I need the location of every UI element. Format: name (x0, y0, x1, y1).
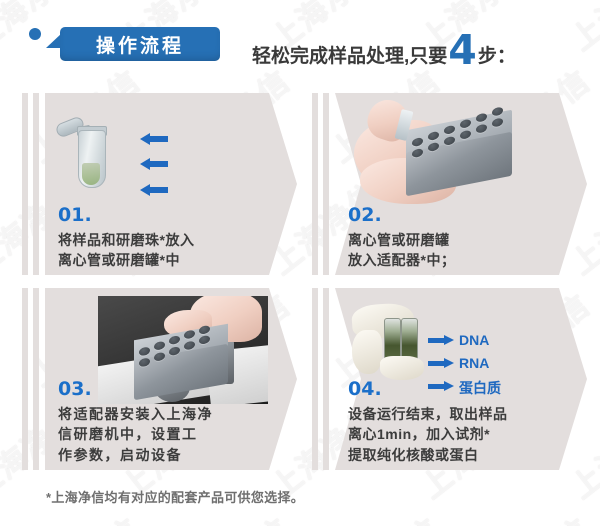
tube-liquid-icon (82, 163, 100, 185)
card-accent-bar (22, 288, 28, 470)
card-accent-bar (312, 93, 318, 275)
sample-arrow-icon (140, 158, 170, 170)
output-arrow-icon (428, 358, 454, 368)
infographic-page: 操作流程 轻松完成样品处理,只要 4 步： (0, 0, 600, 526)
card-accent-bar (33, 288, 39, 470)
step-2-number: 02. (348, 206, 548, 225)
watermark-text: 上海净信 (470, 505, 598, 526)
step-1-body: 01. 将样品和研磨珠*放入 离心管或研磨罐*中 (58, 206, 258, 271)
output-label-dna: DNA (459, 332, 489, 348)
sample-arrow-icon (140, 184, 170, 196)
headline-prefix: 轻松完成样品处理,只要 (252, 41, 447, 68)
step-3-number: 03. (58, 380, 268, 399)
sample-arrow-icon (140, 133, 170, 145)
watermark-text: 上海净信 (170, 505, 298, 526)
headline-step-count: 4 (448, 30, 477, 71)
step-4-number: 04. (348, 380, 558, 399)
watermark-text: 上海净信 (320, 505, 448, 526)
output-label-rna: RNA (459, 355, 489, 371)
card-accent-bar (323, 93, 329, 275)
headline-suffix: 步： (478, 41, 516, 68)
card-accent-bar (33, 93, 39, 275)
step-3-text: 将适配器安装入上海净 信研磨机中，设置工 作参数，启动设备 (58, 404, 268, 465)
page-header: 操作流程 轻松完成样品处理,只要 4 步： (0, 0, 600, 86)
footer-note: *上海净信均有对应的配套产品可供您选择。 (46, 487, 304, 506)
tube-body-icon (78, 130, 106, 188)
step-1-number: 01. (58, 206, 258, 225)
watermark-text: 上海净信 (20, 505, 148, 526)
step-2-text: 离心管或研磨罐 放入适配器*中； (348, 230, 548, 271)
banner-label: 操作流程 (60, 27, 220, 61)
card-accent-bar (22, 93, 28, 275)
hand-loading-adapter-photo (350, 98, 518, 206)
output-arrow-icon (428, 335, 454, 345)
step-2-body: 02. 离心管或研磨罐 放入适配器*中； (348, 206, 548, 271)
card-accent-bar (312, 288, 318, 470)
card-accent-bar (323, 288, 329, 470)
step-4-text: 设备运行结束，取出样品 离心1min，加入试剂* 提取纯化核酸或蛋白 (348, 404, 558, 465)
centrifuge-tube-icon (78, 122, 104, 194)
step-3-body: 03. 将适配器安装入上海净 信研磨机中，设置工 作参数，启动设备 (58, 380, 268, 465)
step-4-body: 04. 设备运行结束，取出样品 离心1min，加入试剂* 提取纯化核酸或蛋白 (348, 380, 558, 465)
step-1-text: 将样品和研磨珠*放入 离心管或研磨罐*中 (58, 230, 258, 271)
page-headline: 轻松完成样品处理,只要 4 步： (252, 28, 516, 72)
banner-dot-icon (29, 28, 41, 40)
